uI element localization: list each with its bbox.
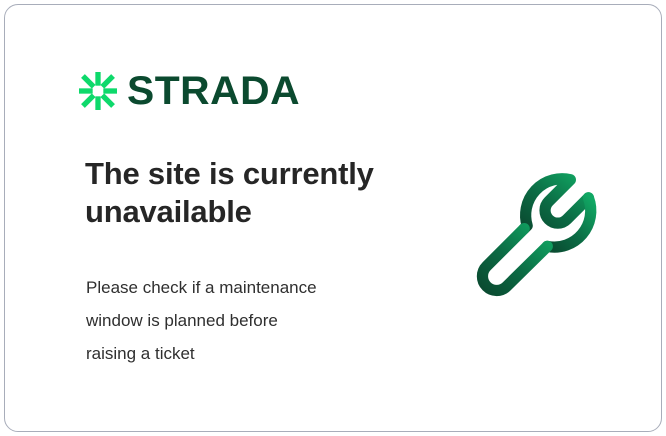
brand-wordmark: STRADA xyxy=(127,71,300,111)
description-line: Please check if a maintenance xyxy=(86,271,396,304)
strada-asterisk-mark-icon xyxy=(79,72,117,110)
description-line: window is planned before xyxy=(86,304,396,337)
page-description: Please check if a maintenance window is … xyxy=(86,271,396,370)
description-line: raising a ticket xyxy=(86,337,396,370)
brand-logo: STRADA xyxy=(79,71,297,111)
error-page: STRADA The site is currently unavailable… xyxy=(0,0,666,436)
page-title: The site is currently unavailable xyxy=(85,155,425,231)
wrench-icon xyxy=(465,162,613,310)
message-card: STRADA The site is currently unavailable… xyxy=(4,4,662,432)
